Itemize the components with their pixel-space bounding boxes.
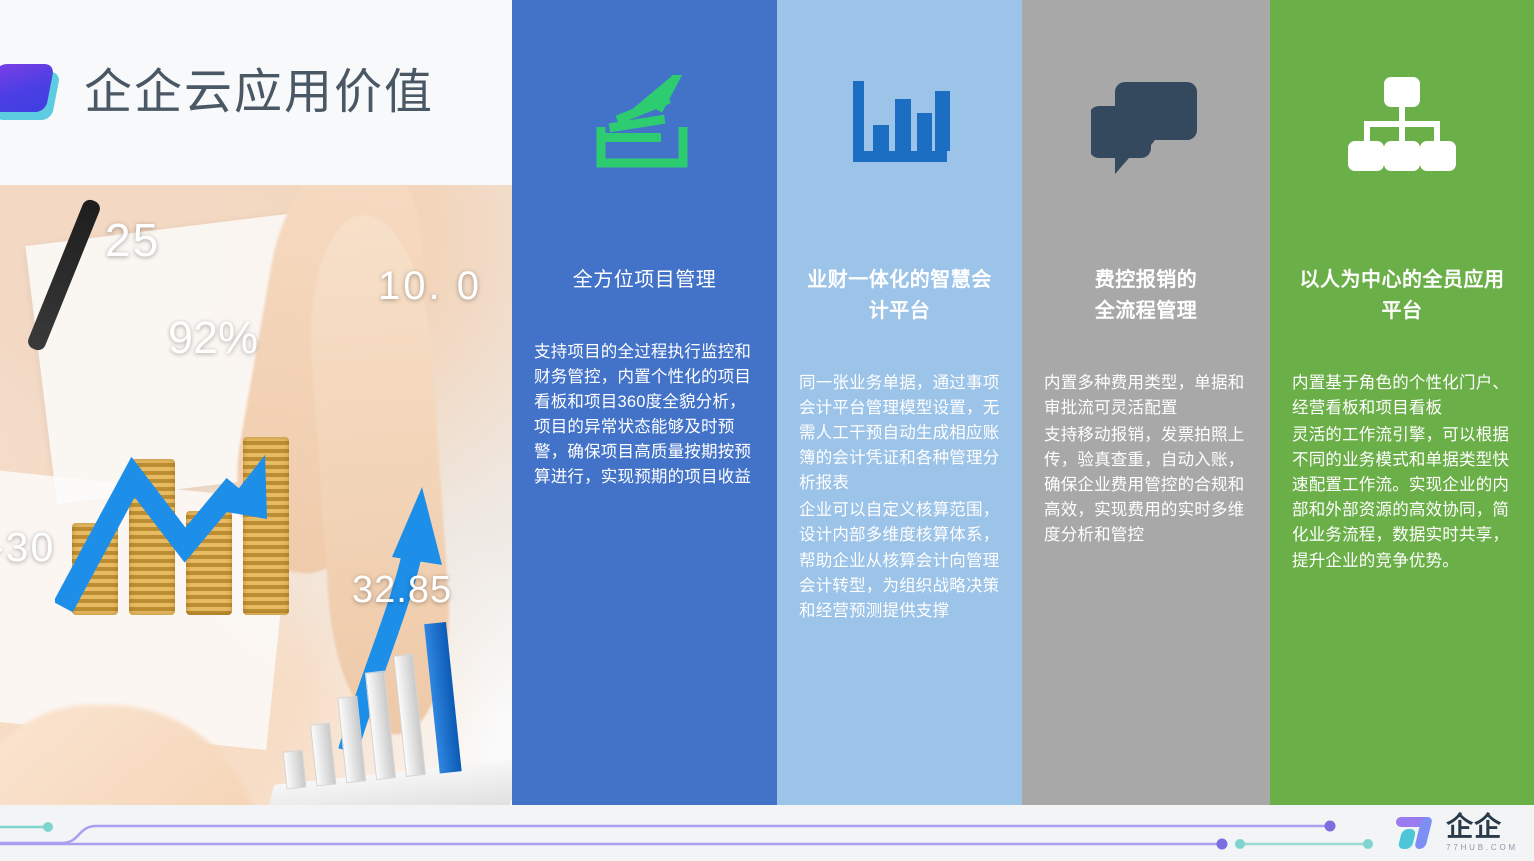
- column-paragraph: 灵活的工作流引擎，可以根据不同的业务模式和单据类型快速配置工作流。实现企业的内部…: [1292, 423, 1512, 573]
- brand-logo: 企企 77HUB.COM: [1394, 813, 1518, 853]
- brand-name-en: 77HUB.COM: [1446, 844, 1518, 852]
- left-panel: 企企云应用价值: [0, 0, 512, 805]
- title-bar: 企企云应用价值: [0, 0, 512, 185]
- bar-chart-icon: [799, 55, 1000, 195]
- column-paragraph: 支持项目的全过程执行监控和财务管控，内置个性化的项目看板和项目360度全貌分析，…: [534, 340, 755, 490]
- overlay-number-neg30: -30: [0, 524, 55, 571]
- overlay-number-25: 25: [105, 213, 160, 267]
- business-analytics-photo: 25 10. 0 92% -30 32.85: [0, 185, 512, 805]
- column-title: 以人为中心的全员应用平台: [1292, 265, 1512, 327]
- stack-fan-icon: [534, 55, 755, 195]
- page-title: 企企云应用价值: [84, 69, 434, 117]
- overlay-number-92pct: 92%: [168, 312, 258, 364]
- footer-decor-lines: [0, 805, 1534, 861]
- column-body: 内置基于角色的个性化门户、经营看板和项目看板 灵活的工作流引擎，可以根据不同的业…: [1292, 371, 1512, 574]
- qiqi-cloud-logo-icon: [0, 64, 58, 122]
- column-title: 费控报销的 全流程管理: [1044, 265, 1248, 327]
- three-d-bar-chart: [252, 642, 512, 805]
- column-title: 业财一体化的智慧会计平台: [799, 265, 1000, 327]
- column-project-management[interactable]: 全方位项目管理 支持项目的全过程执行监控和财务管控，内置个性化的项目看板和项目3…: [512, 0, 777, 805]
- zigzag-arrow-icon: [55, 415, 305, 615]
- column-body: 内置多种费用类型，单据和审批流可灵活配置 支持移动报销，发票拍照上传，验真查重，…: [1044, 371, 1248, 549]
- speech-bubbles-icon: [1044, 55, 1248, 195]
- column-title: 全方位项目管理: [534, 265, 755, 296]
- column-expense-control[interactable]: 费控报销的 全流程管理 内置多种费用类型，单据和审批流可灵活配置 支持移动报销，…: [1022, 0, 1270, 805]
- overlay-number-3285: 32.85: [352, 569, 452, 612]
- column-body: 支持项目的全过程执行监控和财务管控，内置个性化的项目看板和项目360度全貌分析，…: [534, 340, 755, 490]
- column-paragraph: 内置基于角色的个性化门户、经营看板和项目看板: [1292, 371, 1512, 421]
- qiqi-brand-mark-icon: [1394, 815, 1438, 851]
- footer: 企企 77HUB.COM: [0, 805, 1534, 861]
- column-people-centric-platform[interactable]: 以人为中心的全员应用平台 内置基于角色的个性化门户、经营看板和项目看板 灵活的工…: [1270, 0, 1534, 805]
- overlay-number-10: 10. 0: [378, 264, 482, 309]
- column-body: 同一张业务单据，通过事项会计平台管理模型设置，无需人工干预自动生成相应账簿的会计…: [799, 371, 1000, 624]
- column-accounting-platform[interactable]: 业财一体化的智慧会计平台 同一张业务单据，通过事项会计平台管理模型设置，无需人工…: [777, 0, 1022, 805]
- brand-name-cn: 企企: [1446, 814, 1518, 841]
- column-paragraph: 企业可以自定义核算范围，设计内部多维度核算体系，帮助企业从核算会计向管理会计转型…: [799, 498, 1000, 623]
- column-paragraph: 同一张业务单据，通过事项会计平台管理模型设置，无需人工干预自动生成相应账簿的会计…: [799, 371, 1000, 496]
- org-chart-icon: [1292, 55, 1512, 195]
- column-paragraph: 支持移动报销，发票拍照上传，验真查重，自动入账，确保企业费用管控的合规和高效，实…: [1044, 423, 1248, 548]
- value-columns: 全方位项目管理 支持项目的全过程执行监控和财务管控，内置个性化的项目看板和项目3…: [512, 0, 1534, 805]
- column-paragraph: 内置多种费用类型，单据和审批流可灵活配置: [1044, 371, 1248, 421]
- slide-root: 企企云应用价值: [0, 0, 1534, 861]
